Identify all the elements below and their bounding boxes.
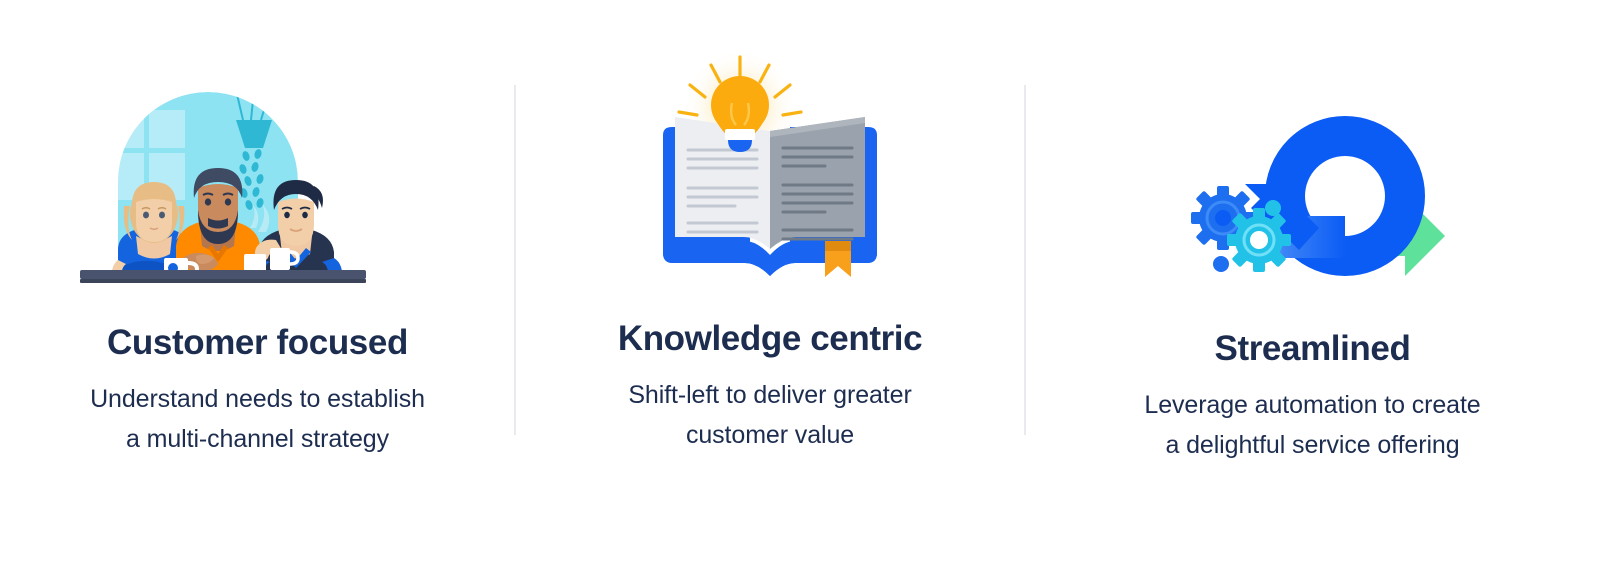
open-book-lightbulb-illustration	[620, 30, 920, 270]
column-body-line-1: Shift-left to deliver greater	[628, 381, 911, 409]
column-body-customer-focused: Understand needs to establish a multi-ch…	[90, 363, 425, 460]
feature-columns-section: Customer focused Understand needs to est…	[0, 0, 1600, 573]
column-body-line-1: Understand needs to establish	[90, 385, 425, 413]
feature-column-streamlined: Streamlined Leverage automation to creat…	[1025, 0, 1600, 466]
team-collaboration-illustration	[58, 42, 458, 282]
feature-column-customer-focused: Customer focused Understand needs to est…	[0, 0, 515, 460]
feature-columns: Customer focused Understand needs to est…	[0, 0, 1600, 460]
column-heading-knowledge-centric: Knowledge centric	[618, 320, 922, 359]
column-body-knowledge-centric: Shift-left to deliver greater customer v…	[628, 359, 911, 456]
column-body-line-1: Leverage automation to create	[1144, 391, 1480, 419]
column-heading-customer-focused: Customer focused	[107, 324, 408, 363]
column-heading-streamlined: Streamlined	[1215, 330, 1411, 369]
feature-column-knowledge-centric: Knowledge centric Shift-left to deliver …	[515, 0, 1025, 456]
column-body-line-2: a delightful service offering	[1165, 431, 1459, 459]
column-body-line-2: customer value	[686, 421, 854, 449]
loop-arrow-gears-illustration	[1153, 48, 1473, 288]
column-body-streamlined: Leverage automation to create a delightf…	[1144, 369, 1480, 466]
column-body-line-2: a multi-channel strategy	[126, 425, 389, 453]
